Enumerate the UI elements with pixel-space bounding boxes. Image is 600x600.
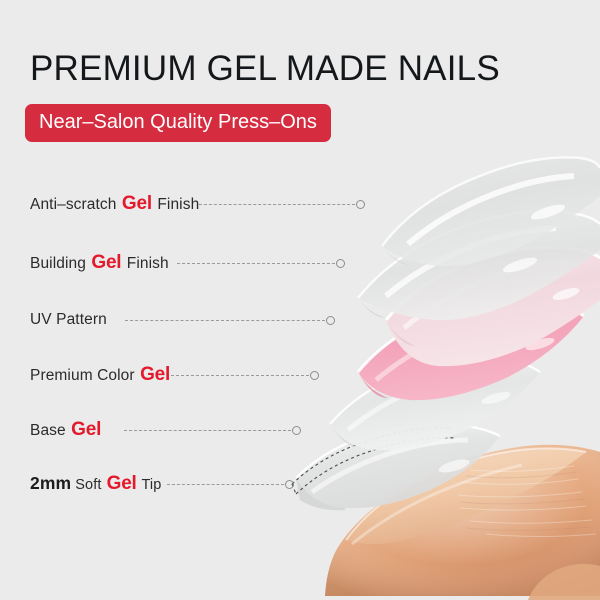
leader-endpoint-dot — [326, 316, 335, 325]
callout-base-gel: Base Gel — [30, 418, 301, 442]
leader-dash — [124, 430, 291, 431]
callout-anti-scratch-gel-finish: Anti–scratch Gel Finish — [30, 192, 365, 216]
leader-dash — [171, 375, 309, 376]
leader-line — [124, 425, 301, 435]
leader-endpoint-dot — [285, 480, 294, 489]
leader-endpoint-dot — [292, 426, 301, 435]
leader-dash — [167, 484, 284, 485]
callout-building-gel-finish: Building Gel Finish — [30, 251, 345, 275]
leader-line — [177, 258, 345, 268]
callout-label: UV Pattern — [30, 311, 107, 329]
gel-accent: Gel — [90, 252, 122, 273]
leader-endpoint-dot — [356, 200, 365, 209]
infographic-canvas: PREMIUM GEL MADE NAILS Near–Salon Qualit… — [0, 0, 600, 600]
leader-endpoint-dot — [336, 259, 345, 268]
thickness-value: 2mm — [30, 473, 71, 493]
callout-label: Premium Color Gel — [30, 364, 171, 386]
leader-line — [167, 479, 294, 489]
callout-label: Base Gel — [30, 419, 102, 441]
callout-soft-gel-tip: 2mm Soft Gel Tip — [30, 472, 294, 496]
leader-dash — [125, 320, 325, 321]
leader-line — [125, 315, 335, 325]
gel-accent: Gel — [106, 473, 138, 494]
callout-premium-color-gel: Premium Color Gel — [30, 363, 319, 387]
leader-dash — [199, 204, 355, 205]
callout-label: Anti–scratch Gel Finish — [30, 193, 199, 215]
gel-accent: Gel — [121, 193, 153, 214]
callout-list: Anti–scratch Gel Finish Building Gel Fin… — [0, 0, 600, 600]
leader-dash — [177, 263, 335, 264]
leader-line — [171, 370, 319, 380]
callout-label: 2mm Soft Gel Tip — [30, 473, 161, 495]
callout-uv-pattern: UV Pattern — [30, 308, 335, 332]
gel-accent: Gel — [70, 419, 102, 440]
leader-line — [199, 199, 365, 209]
callout-label: Building Gel Finish — [30, 252, 169, 274]
leader-endpoint-dot — [310, 371, 319, 380]
gel-accent: Gel — [139, 364, 171, 385]
